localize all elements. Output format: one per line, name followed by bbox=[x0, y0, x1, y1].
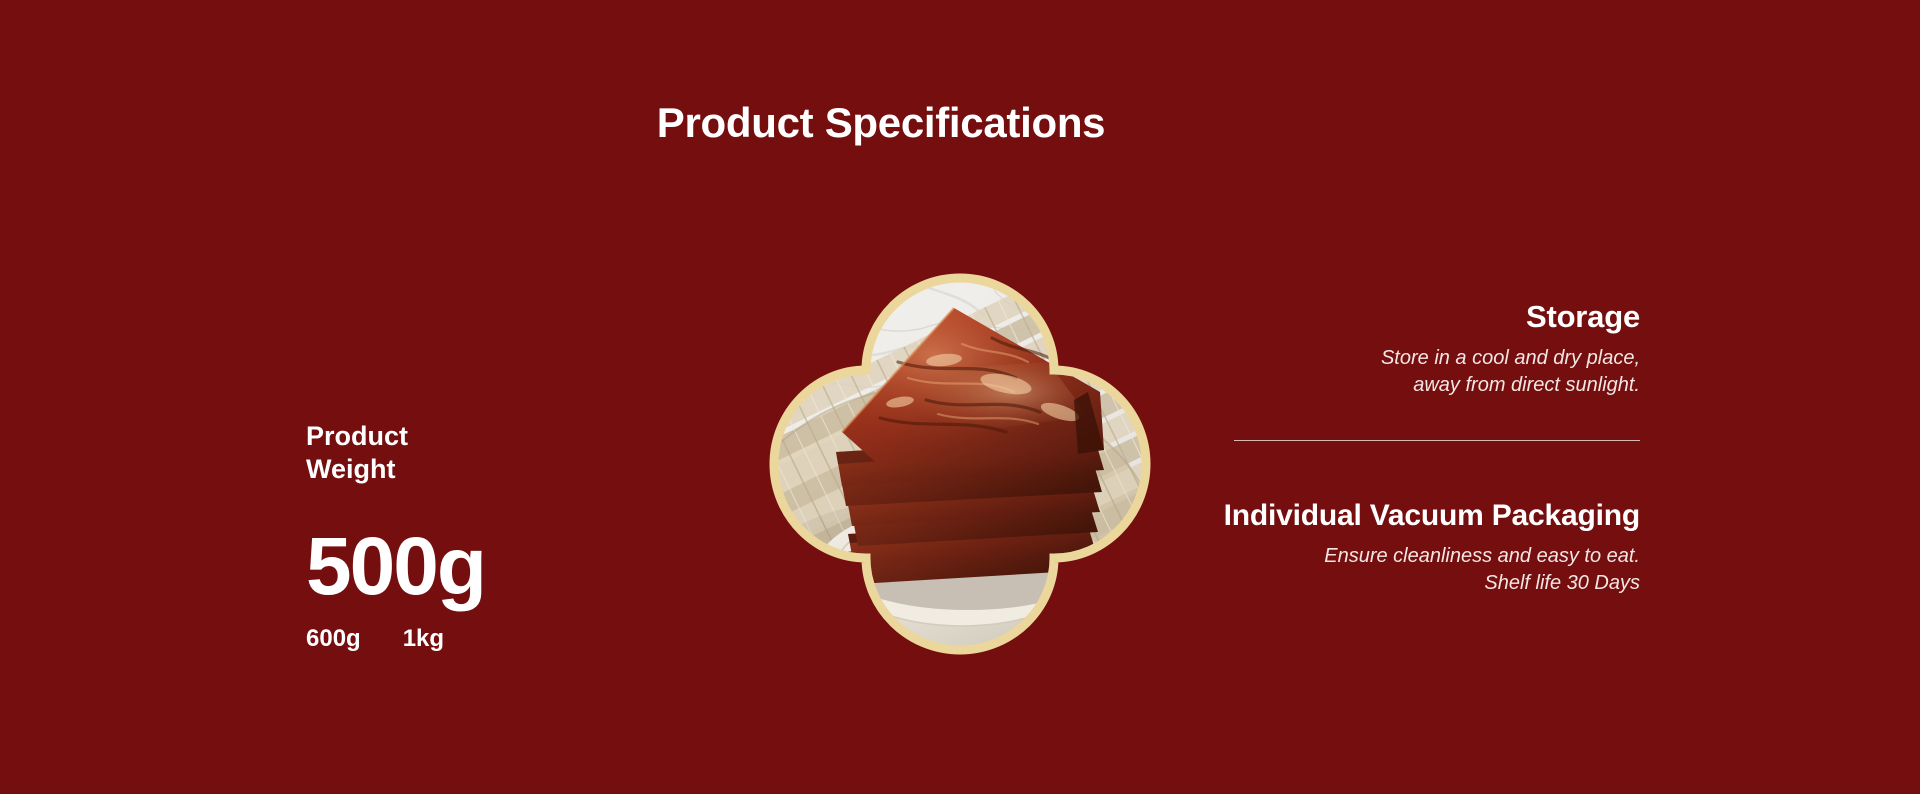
product-specifications-banner: Product Specifications Product Weight 50… bbox=[0, 0, 1920, 794]
storage-body: Store in a cool and dry place, away from… bbox=[1140, 345, 1640, 399]
packaging-heading: Individual Vacuum Packaging bbox=[1140, 499, 1640, 533]
product-weight-primary-value: 500g bbox=[306, 528, 646, 607]
quatrefoil-frame-svg bbox=[748, 252, 1172, 676]
info-group-storage: Storage Store in a cool and dry place, a… bbox=[1140, 300, 1640, 399]
product-photo-frame bbox=[748, 252, 1172, 676]
weight-option-1kg[interactable]: 1kg bbox=[403, 625, 444, 653]
page-title-text: Product Specifications bbox=[657, 100, 1106, 146]
page-title: Product Specifications bbox=[0, 100, 1920, 146]
product-photo-image bbox=[652, 252, 1188, 722]
product-info-column: Storage Store in a cool and dry place, a… bbox=[1140, 300, 1640, 597]
product-weight-options: 600g 1kg bbox=[306, 625, 646, 653]
product-weight-block: Product Weight 500g 600g 1kg bbox=[306, 420, 646, 653]
packaging-body: Ensure cleanliness and easy to eat. Shel… bbox=[1140, 543, 1640, 597]
info-group-packaging: Individual Vacuum Packaging Ensure clean… bbox=[1140, 499, 1640, 597]
weight-option-600g[interactable]: 600g bbox=[306, 625, 361, 653]
product-weight-label: Product Weight bbox=[306, 420, 646, 486]
info-divider bbox=[1234, 440, 1640, 441]
storage-heading: Storage bbox=[1140, 300, 1640, 335]
